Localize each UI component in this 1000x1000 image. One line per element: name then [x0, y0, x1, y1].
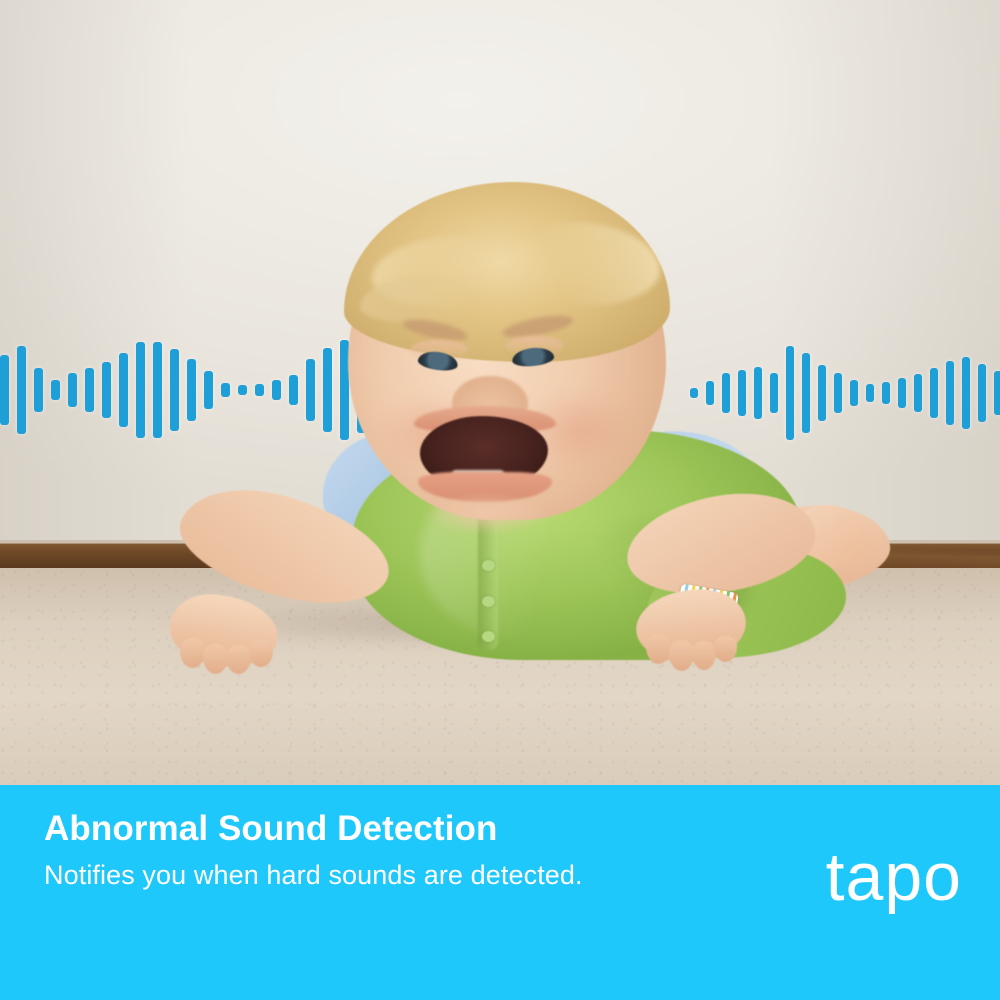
- page-subtitle: Notifies you when hard sounds are detect…: [44, 860, 583, 891]
- baby-finger: [714, 636, 737, 662]
- page-title: Abnormal Sound Detection: [44, 809, 498, 849]
- scene-photo: [0, 0, 1000, 785]
- baby-finger: [180, 638, 205, 668]
- vest-button: [482, 596, 495, 607]
- vest-button: [482, 631, 495, 642]
- baby-chin: [424, 492, 548, 534]
- baby-figure: [0, 0, 1000, 785]
- caption-banner: Abnormal Sound Detection Notifies you wh…: [0, 785, 1000, 1000]
- baby-finger: [203, 644, 228, 674]
- baby-finger: [669, 640, 694, 671]
- promo-image: Abnormal Sound Detection Notifies you wh…: [0, 0, 1000, 1000]
- tapo-logo: tapo: [826, 843, 962, 911]
- vest-button: [482, 560, 495, 571]
- baby-finger: [692, 641, 716, 670]
- baby-finger: [249, 640, 273, 667]
- baby-finger: [226, 645, 251, 674]
